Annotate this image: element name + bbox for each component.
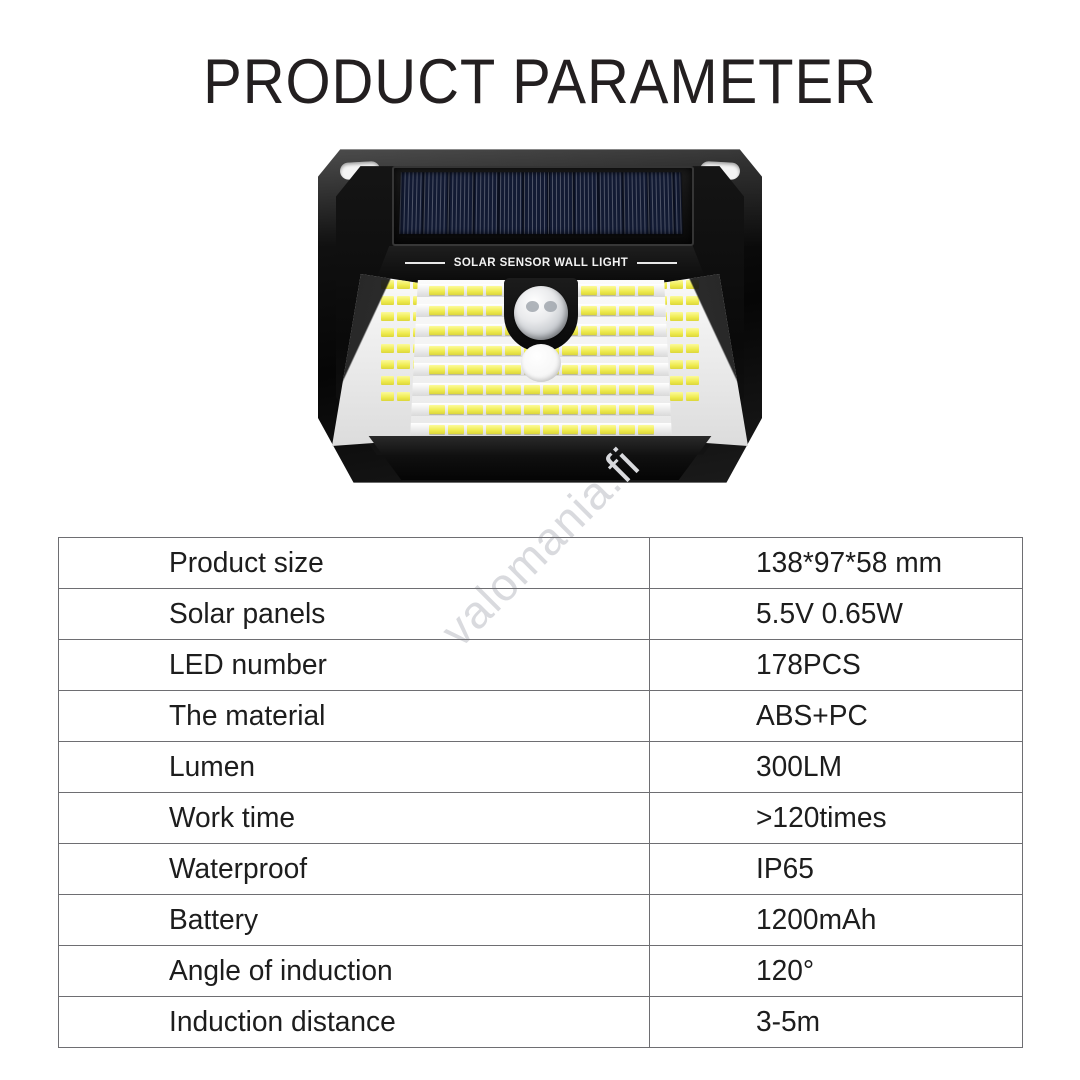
- table-row: Angle of induction 120°: [59, 946, 1023, 997]
- led-chip: [467, 346, 483, 355]
- led-chip: [467, 365, 483, 374]
- row-value-cell: 138*97*58 mm: [650, 538, 1023, 589]
- led-chip: [429, 306, 445, 315]
- table-row: Lumen 300LM: [59, 742, 1023, 793]
- row-label: Induction distance: [169, 1006, 635, 1039]
- led-chip: [486, 365, 502, 374]
- led-chip: [581, 286, 597, 295]
- led-chip: [619, 346, 635, 355]
- label-dash-right-icon: [637, 262, 677, 264]
- led-row: [410, 423, 672, 436]
- led-chip: [600, 346, 616, 355]
- product-label-text: SOLAR SENSOR WALL LIGHT: [454, 257, 628, 269]
- led-chip: [600, 306, 616, 315]
- product-label-band: SOLAR SENSOR WALL LIGHT: [376, 246, 706, 280]
- led-chip: [638, 326, 654, 335]
- row-value-cell: 1200mAh: [650, 895, 1023, 946]
- bottom-bezel: [336, 436, 744, 480]
- led-chip: [467, 286, 483, 295]
- row-value-cell: 5.5V 0.65W: [650, 589, 1023, 640]
- led-chip: [429, 365, 445, 374]
- led-chip: [524, 385, 540, 394]
- product-image: SOLAR SENSOR WALL LIGHT: [318, 146, 762, 486]
- row-value-cell: 120°: [650, 946, 1023, 997]
- table-row: Work time >120times: [59, 793, 1023, 844]
- led-chip: [486, 425, 502, 434]
- led-chip: [448, 385, 464, 394]
- table-row: Product size 138*97*58 mm: [59, 538, 1023, 589]
- row-value: ABS+PC: [756, 700, 1014, 733]
- table-row: Solar panels 5.5V 0.65W: [59, 589, 1023, 640]
- led-chip: [505, 365, 521, 374]
- led-chip: [467, 306, 483, 315]
- light-sensor-icon: [521, 344, 561, 382]
- row-value: 138*97*58 mm: [756, 547, 1014, 580]
- row-label: Product size: [169, 547, 635, 580]
- led-chip: [562, 385, 578, 394]
- row-label: LED number: [169, 649, 635, 682]
- table-body: Product size 138*97*58 mm Solar panels 5…: [59, 538, 1023, 1048]
- led-chip: [486, 286, 502, 295]
- led-chip: [562, 365, 578, 374]
- led-row: [410, 403, 672, 416]
- table-row: Battery 1200mAh: [59, 895, 1023, 946]
- row-label-cell: Lumen: [59, 742, 650, 793]
- led-chip: [486, 405, 502, 414]
- led-chip: [619, 385, 635, 394]
- led-chip: [543, 425, 559, 434]
- led-chip: [581, 326, 597, 335]
- led-chip: [486, 346, 502, 355]
- led-chip: [562, 405, 578, 414]
- led-chip: [448, 365, 464, 374]
- led-chip: [638, 405, 654, 414]
- led-chip: [581, 365, 597, 374]
- row-value: 178PCS: [756, 649, 1014, 682]
- led-chip: [467, 425, 483, 434]
- led-chip: [562, 425, 578, 434]
- led-chip: [505, 425, 521, 434]
- led-chip: [581, 385, 597, 394]
- led-chip: [600, 286, 616, 295]
- row-value-cell: 300LM: [650, 742, 1023, 793]
- table-row: The material ABS+PC: [59, 691, 1023, 742]
- led-chip: [581, 306, 597, 315]
- led-chip: [543, 385, 559, 394]
- row-label-cell: Induction distance: [59, 997, 650, 1048]
- led-chip: [600, 326, 616, 335]
- product-parameter-table: Product size 138*97*58 mm Solar panels 5…: [58, 537, 1023, 1048]
- label-dash-left-icon: [405, 262, 445, 264]
- led-chip: [448, 346, 464, 355]
- row-label-cell: Battery: [59, 895, 650, 946]
- led-chip: [448, 405, 464, 414]
- led-chip: [619, 425, 635, 434]
- led-chip: [638, 346, 654, 355]
- solar-panel: [399, 172, 683, 234]
- row-label: Solar panels: [169, 598, 635, 631]
- row-value-cell: >120times: [650, 793, 1023, 844]
- led-chip: [505, 385, 521, 394]
- led-chip: [600, 425, 616, 434]
- led-chip: [619, 405, 635, 414]
- page-title: PRODUCT PARAMETER: [43, 46, 1037, 118]
- led-chip: [619, 306, 635, 315]
- row-label: Angle of induction: [169, 955, 635, 988]
- led-chip: [524, 425, 540, 434]
- row-value-cell: 178PCS: [650, 640, 1023, 691]
- led-chip: [543, 405, 559, 414]
- row-value: 300LM: [756, 751, 1014, 784]
- led-chip: [429, 326, 445, 335]
- row-label-cell: Product size: [59, 538, 650, 589]
- row-label-cell: Solar panels: [59, 589, 650, 640]
- led-chip: [638, 365, 654, 374]
- led-chip: [505, 405, 521, 414]
- led-chip: [619, 326, 635, 335]
- row-value: 5.5V 0.65W: [756, 598, 1014, 631]
- row-value: >120times: [756, 802, 1014, 835]
- row-label-cell: Angle of induction: [59, 946, 650, 997]
- row-value-cell: 3-5m: [650, 997, 1023, 1048]
- led-chip: [581, 405, 597, 414]
- led-chip: [429, 286, 445, 295]
- led-chip: [467, 405, 483, 414]
- led-chip: [486, 326, 502, 335]
- row-label-cell: LED number: [59, 640, 650, 691]
- led-chip: [638, 425, 654, 434]
- row-value: 1200mAh: [756, 904, 1014, 937]
- row-value: IP65: [756, 853, 1014, 886]
- led-chip: [581, 425, 597, 434]
- led-chip: [619, 286, 635, 295]
- led-chip: [467, 326, 483, 335]
- led-chip: [486, 385, 502, 394]
- table-row: LED number 178PCS: [59, 640, 1023, 691]
- led-chip: [600, 405, 616, 414]
- led-chip: [638, 306, 654, 315]
- led-chip: [600, 385, 616, 394]
- table-row: Waterproof IP65: [59, 844, 1023, 895]
- row-label: Battery: [169, 904, 635, 937]
- led-chip: [638, 385, 654, 394]
- row-label: Lumen: [169, 751, 635, 784]
- row-label: The material: [169, 700, 635, 733]
- row-label: Work time: [169, 802, 635, 835]
- row-value-cell: IP65: [650, 844, 1023, 895]
- led-chip: [600, 365, 616, 374]
- led-chip: [429, 425, 445, 434]
- led-chip: [638, 286, 654, 295]
- led-chip: [505, 346, 521, 355]
- led-chip: [581, 346, 597, 355]
- row-value: 3-5m: [756, 1006, 1014, 1039]
- led-chip: [619, 365, 635, 374]
- led-chip: [429, 346, 445, 355]
- table-row: Induction distance 3-5m: [59, 997, 1023, 1048]
- row-label: Waterproof: [169, 853, 635, 886]
- row-label-cell: Waterproof: [59, 844, 650, 895]
- led-chip: [467, 385, 483, 394]
- row-value: 120°: [756, 955, 1014, 988]
- led-chip: [448, 425, 464, 434]
- row-value-cell: ABS+PC: [650, 691, 1023, 742]
- led-chip: [524, 405, 540, 414]
- led-chip: [562, 346, 578, 355]
- led-chip: [448, 306, 464, 315]
- row-label-cell: The material: [59, 691, 650, 742]
- led-row: [410, 383, 672, 396]
- led-chip: [486, 306, 502, 315]
- led-chip: [448, 286, 464, 295]
- led-chip: [448, 326, 464, 335]
- row-label-cell: Work time: [59, 793, 650, 844]
- led-chip: [429, 385, 445, 394]
- led-chip: [429, 405, 445, 414]
- pir-sensor-icon: [514, 286, 568, 340]
